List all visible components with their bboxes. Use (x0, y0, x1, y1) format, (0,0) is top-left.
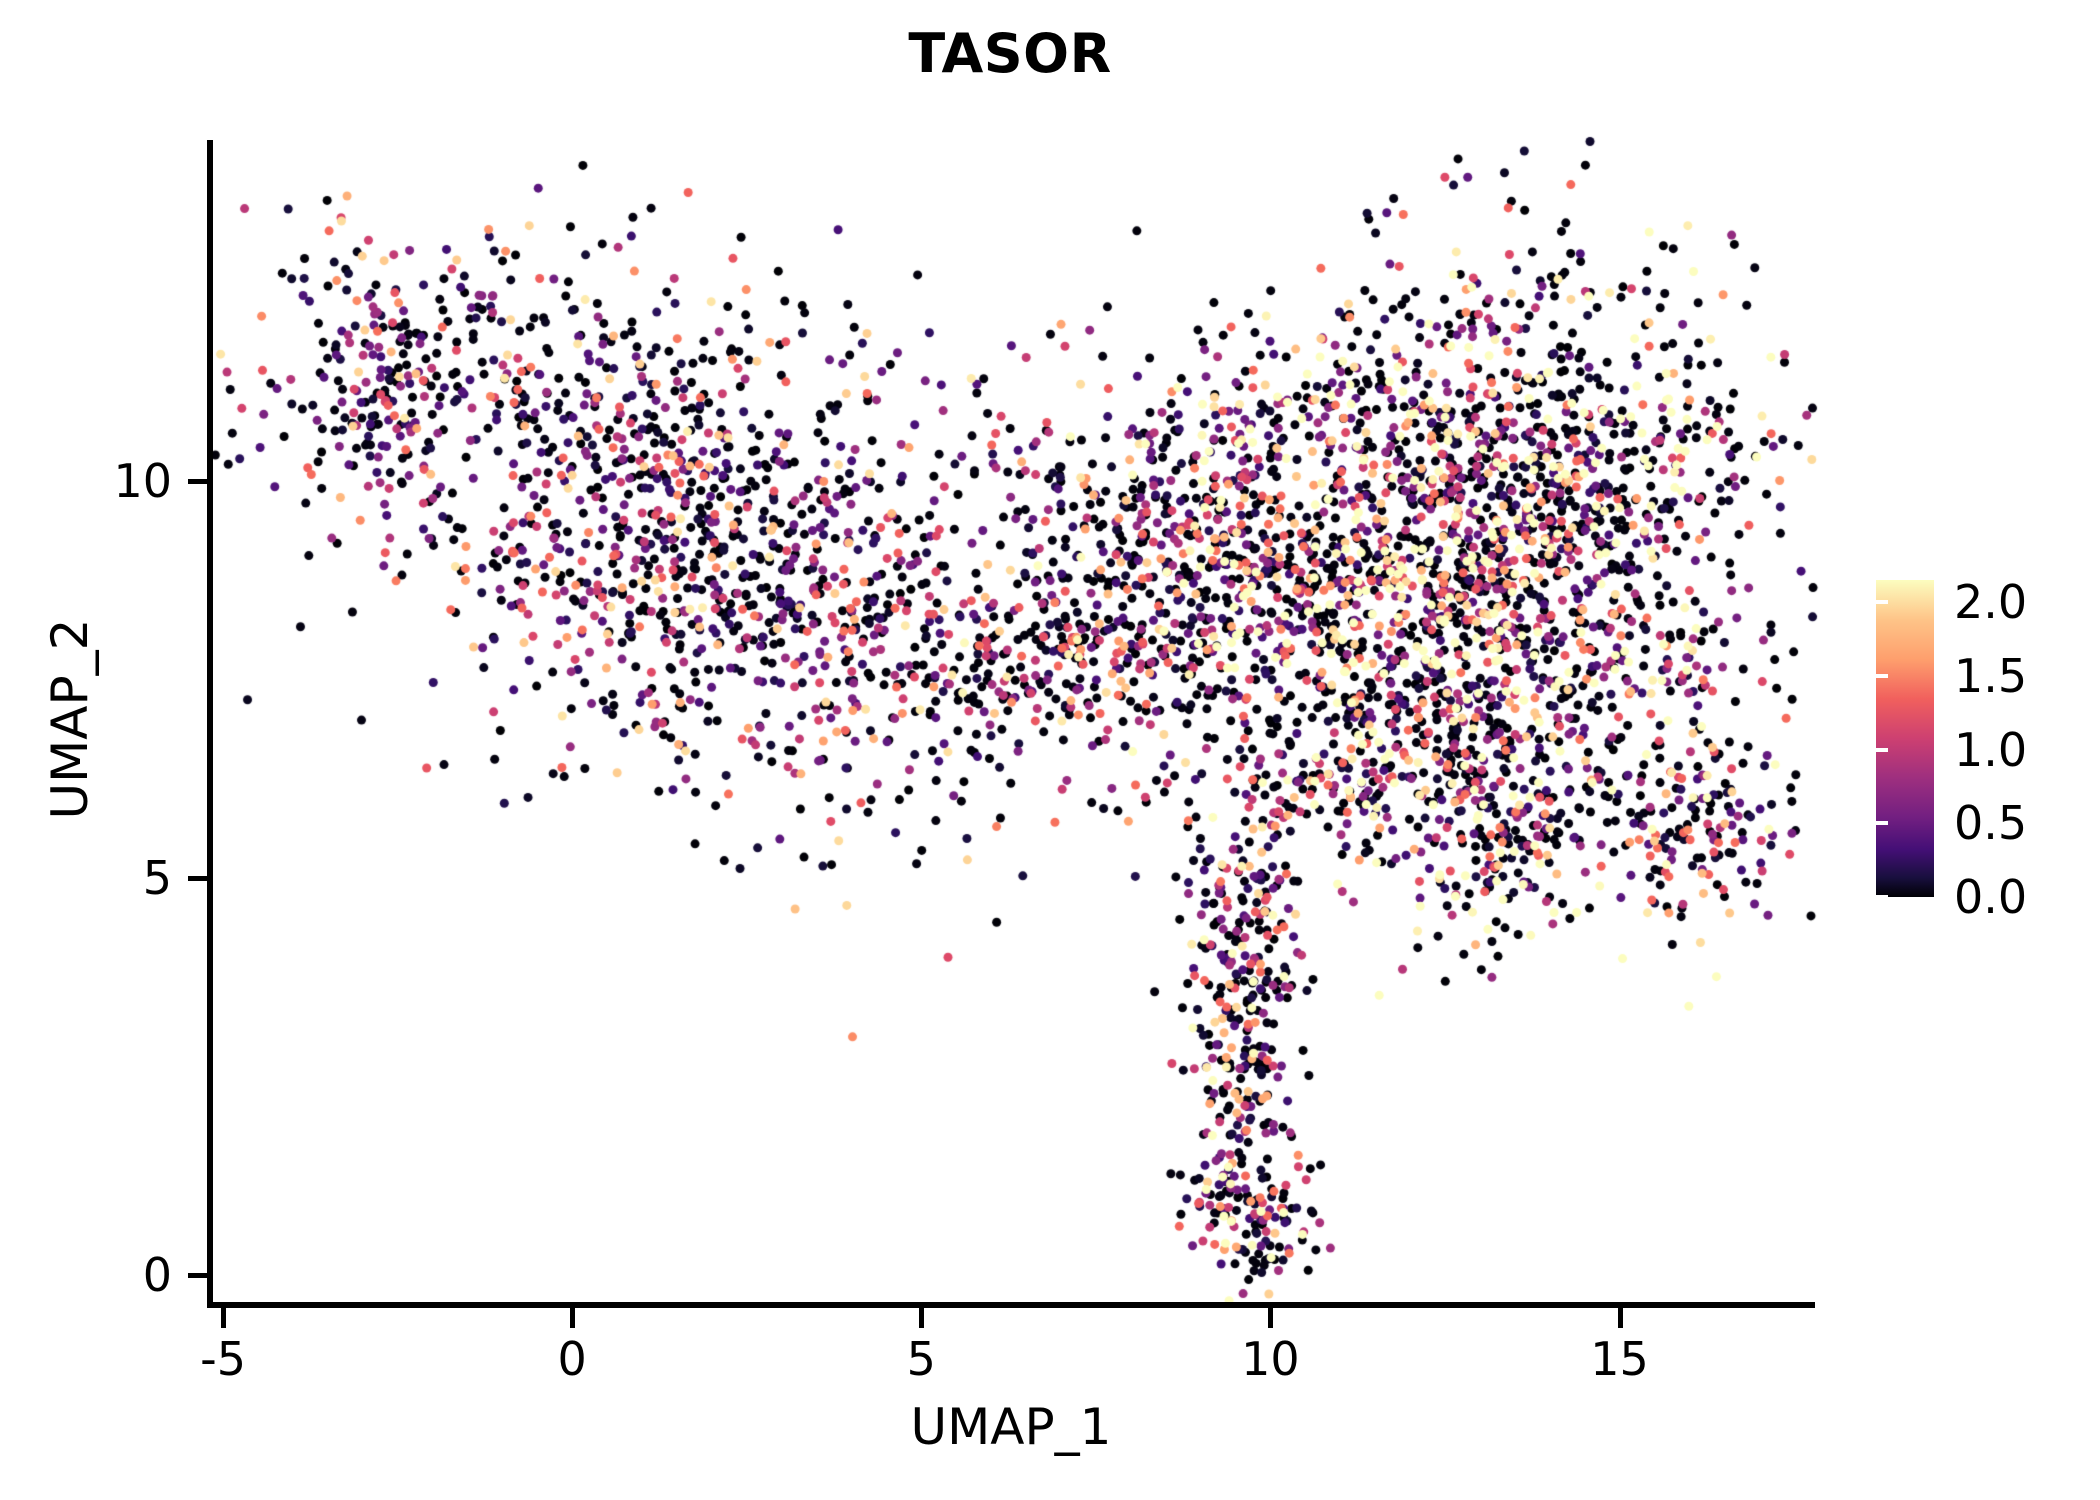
y-axis-label: UMAP_2 (41, 369, 99, 1069)
colorbar-tick-mark (1876, 748, 1888, 752)
colorbar-tick-mark (1876, 821, 1888, 825)
y-tick-label: 10 (113, 454, 172, 508)
y-tick-mark (188, 876, 208, 881)
colorbar-tick-mark (1876, 895, 1888, 899)
umap-feature-plot: TASOR -5051015 0510 UMAP_1 UMAP_2 0.00.5… (0, 0, 2100, 1500)
colorbar-tick-label: 0.5 (1954, 796, 2027, 850)
colorbar-tick-mark (1864, 895, 1876, 899)
colorbar-tick-mark (1864, 600, 1876, 604)
x-tick-mark (221, 1308, 226, 1328)
x-tick-label: -5 (200, 1332, 246, 1386)
x-tick-label: 15 (1590, 1332, 1649, 1386)
x-tick-mark (919, 1308, 924, 1328)
x-axis-spine (207, 1302, 1815, 1308)
y-tick-mark (188, 1273, 208, 1278)
colorbar-tick-mark (1876, 674, 1888, 678)
x-tick-mark (1618, 1308, 1623, 1328)
colorbar-tick-mark (1876, 600, 1888, 604)
y-tick-label: 0 (143, 1248, 172, 1302)
x-tick-mark (1268, 1308, 1273, 1328)
x-tick-label: 10 (1241, 1332, 1300, 1386)
colorbar-tick-mark (1864, 748, 1876, 752)
colorbar-gradient (1876, 580, 1934, 897)
colorbar-tick-label: 1.5 (1954, 649, 2027, 703)
colorbar-tick-label: 2.0 (1954, 575, 2027, 629)
scatter-plot-canvas (0, 0, 2100, 1500)
x-tick-label: 0 (558, 1332, 587, 1386)
y-tick-label: 5 (143, 851, 172, 905)
colorbar-tick-label: 1.0 (1954, 723, 2027, 777)
x-tick-mark (570, 1308, 575, 1328)
x-tick-label: 5 (907, 1332, 936, 1386)
y-axis-spine (207, 140, 213, 1308)
colorbar-tick-label: 0.0 (1954, 870, 2027, 924)
colorbar-tick-mark (1864, 674, 1876, 678)
x-axis-label: UMAP_1 (207, 1398, 1815, 1456)
colorbar-tick-mark (1864, 821, 1876, 825)
y-tick-mark (188, 479, 208, 484)
